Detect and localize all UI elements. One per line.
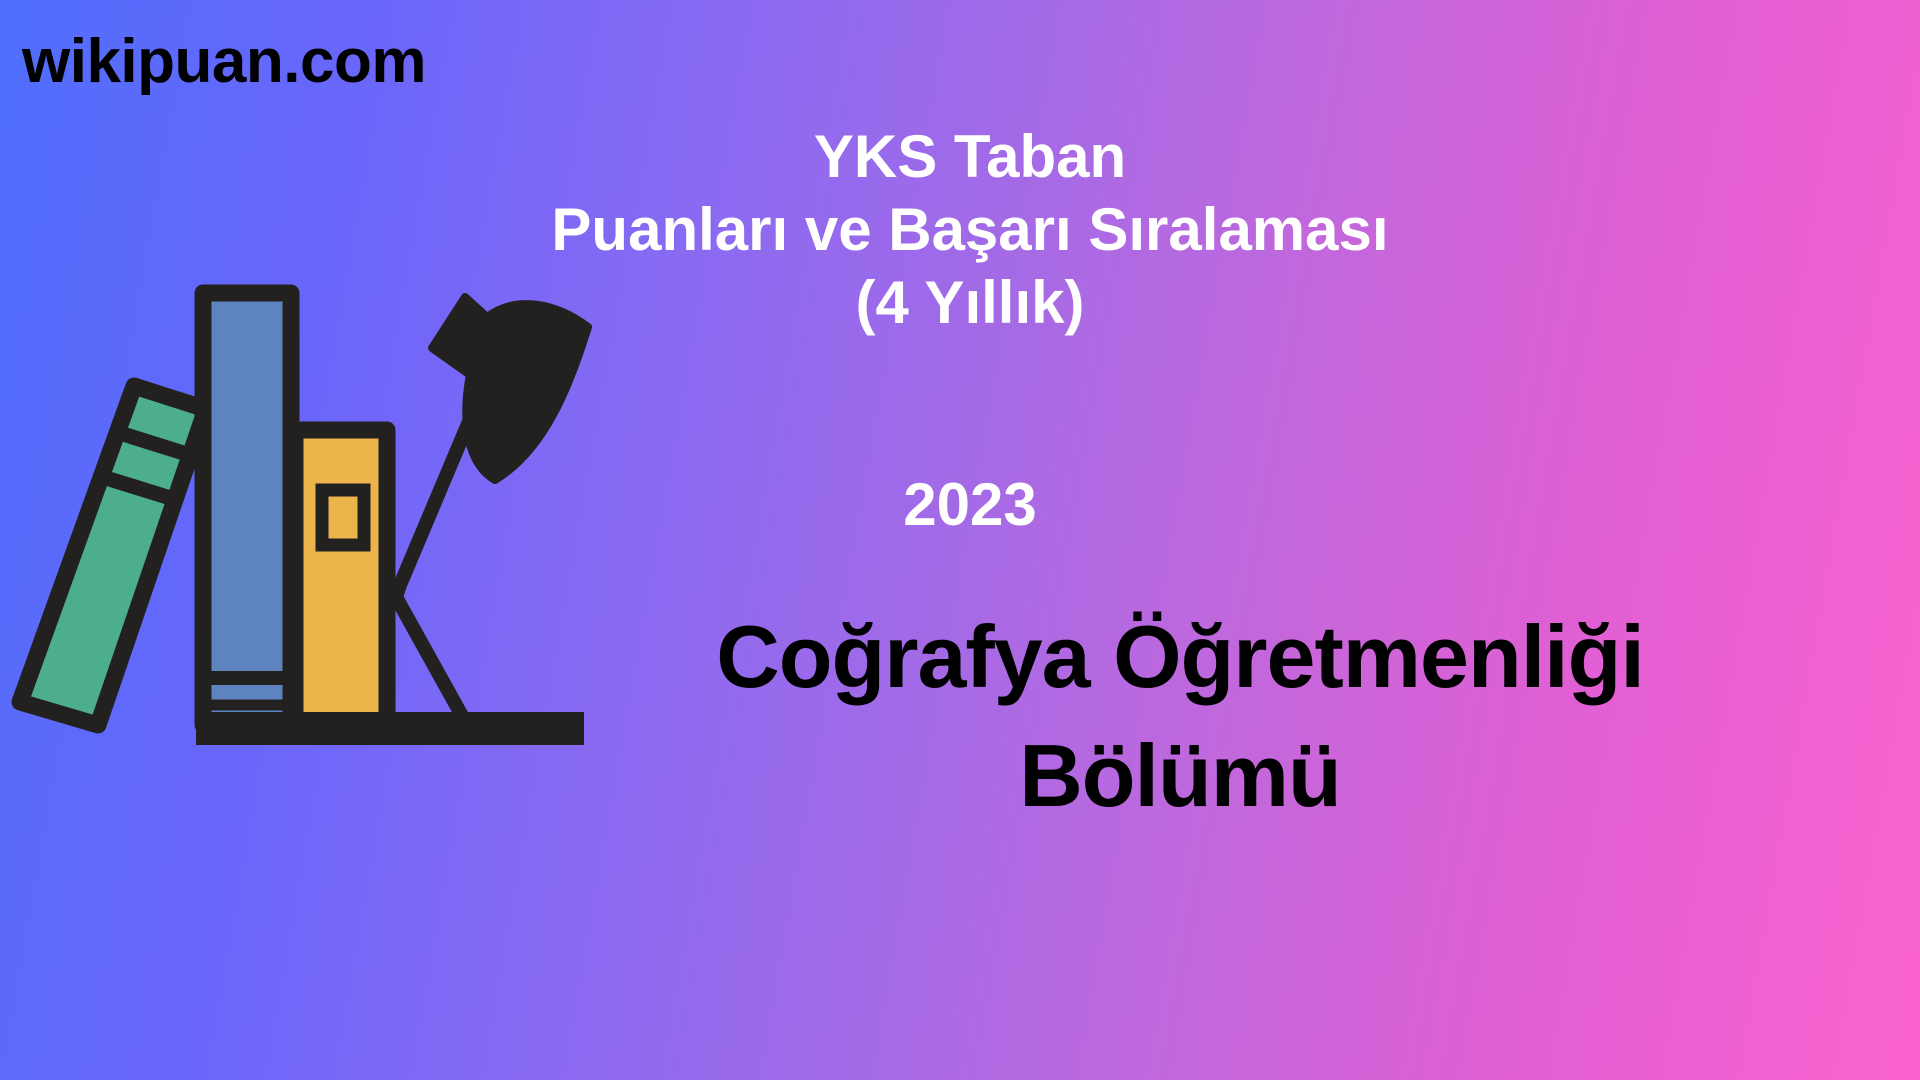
exam-year: 2023 [470, 472, 1470, 538]
blue-book [203, 293, 291, 725]
promo-banner: wikipuan.com [0, 0, 1920, 1080]
site-logo: wikipuan.com [22, 28, 426, 96]
department-name: Coğrafya Öğretmenliği Bölümü [430, 598, 1920, 836]
green-book [20, 386, 206, 725]
exam-title: YKS Taban Puanları ve Başarı Sıralaması … [470, 120, 1470, 340]
yellow-book [295, 430, 387, 725]
